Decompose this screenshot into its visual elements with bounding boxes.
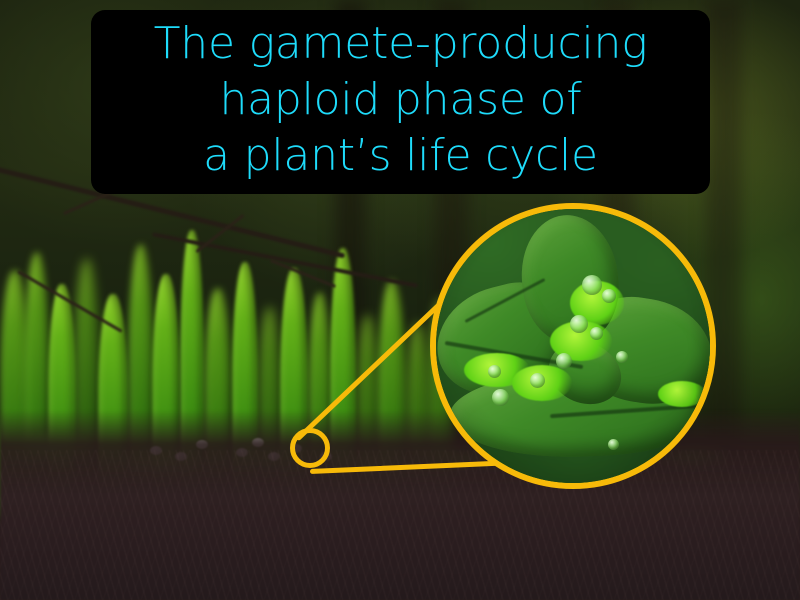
caption-line-1: The gamete-producing xyxy=(154,16,648,72)
definition-caption-box: The gamete-producing haploid phase of a … xyxy=(91,10,710,194)
soil-texture xyxy=(0,450,800,600)
caption-line-3: a plant’s life cycle xyxy=(203,128,598,184)
screenshot-canvas: The gamete-producing haploid phase of a … xyxy=(0,0,800,600)
caption-line-2: haploid phase of xyxy=(219,72,581,128)
